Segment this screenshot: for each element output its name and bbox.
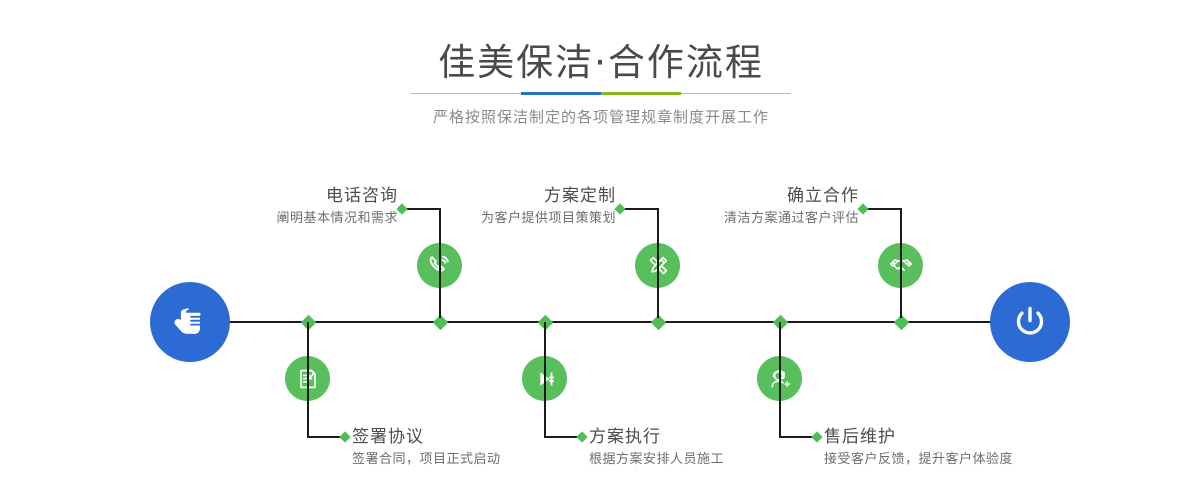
step-title-1: 电话咨询 — [180, 185, 398, 207]
connector-vertical-4 — [544, 322, 546, 436]
step-label-5: 确立合作 清洁方案通过客户评估 — [641, 185, 859, 229]
step-label-2: 签署协议 签署合同，项目正式启动 — [352, 426, 582, 470]
step-title-6: 售后维护 — [824, 426, 1074, 448]
end-node[interactable] — [990, 282, 1070, 362]
connector-horizontal-6 — [779, 436, 815, 438]
step-label-4: 方案执行 根据方案安排人员施工 — [589, 426, 819, 470]
title-divider — [411, 93, 791, 94]
connector-horizontal-5 — [865, 208, 901, 210]
step-label-3: 方案定制 为客户提供项目策策划 — [398, 185, 616, 229]
step-label-6: 售后维护 接受客户反馈，提升客户体验度 — [824, 426, 1074, 470]
pointing-hand-icon — [167, 299, 213, 345]
step-desc-1: 阐明基本情况和需求 — [180, 209, 398, 229]
divider-accent-green — [601, 92, 681, 95]
page-title: 佳美保洁·合作流程 — [0, 43, 1202, 83]
page-subtitle: 严格按照保洁制定的各项管理规章制度开展工作 — [0, 107, 1202, 127]
step-title-5: 确立合作 — [641, 185, 859, 207]
step-desc-6: 接受客户反馈，提升客户体验度 — [824, 450, 1074, 470]
step-label-1: 电话咨询 阐明基本情况和需求 — [180, 185, 398, 229]
step-title-3: 方案定制 — [398, 185, 616, 207]
connector-horizontal-4 — [544, 436, 580, 438]
step-desc-3: 为客户提供项目策策划 — [398, 209, 616, 229]
step-desc-5: 清洁方案通过客户评估 — [641, 209, 859, 229]
connector-vertical-5 — [900, 208, 902, 318]
connector-horizontal-2 — [307, 436, 343, 438]
step-desc-2: 签署合同，项目正式启动 — [352, 450, 582, 470]
connector-tip-2 — [339, 431, 350, 442]
flow-diagram-canvas: 佳美保洁·合作流程 严格按照保洁制定的各项管理规章制度开展工作 — [0, 0, 1202, 502]
step-desc-4: 根据方案安排人员施工 — [589, 450, 819, 470]
divider-accent-blue — [521, 92, 601, 95]
connector-vertical-6 — [779, 322, 781, 436]
power-icon — [1007, 299, 1053, 345]
start-node[interactable] — [150, 282, 230, 362]
connector-tip-5 — [857, 203, 868, 214]
connector-tip-3 — [614, 203, 625, 214]
connector-vertical-2 — [307, 322, 309, 436]
